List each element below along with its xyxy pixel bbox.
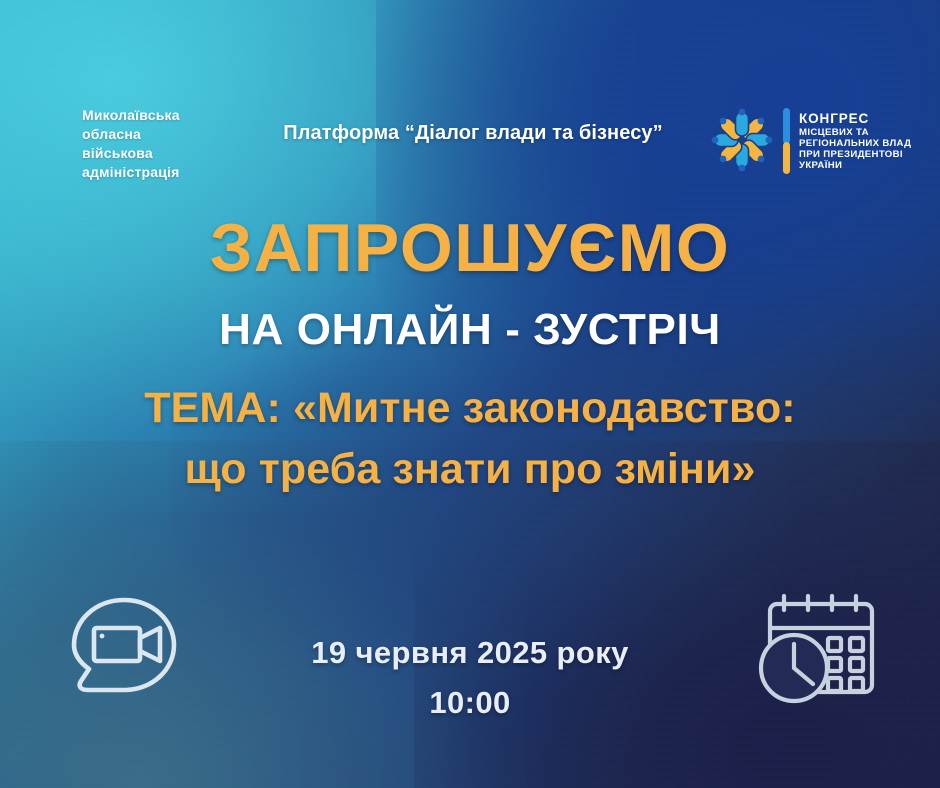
congress-line-5: УКРАЇНИ (799, 161, 911, 172)
theme-heading: ТЕМА: «Митне законодавство: що треба зна… (0, 378, 940, 500)
event-invitation-poster: Миколаївська обласна військова адміністр… (0, 0, 940, 788)
congress-line-1: КОНГРЕС (799, 111, 869, 126)
congress-logo-text: КОНГРЕС МІСЦЕВИХ ТА РЕГІОНАЛЬНИХ ВЛАД ПР… (797, 110, 911, 172)
congress-flag-bar-icon (782, 108, 791, 174)
invite-heading: ЗАПРОШУЄМО (0, 214, 940, 282)
online-meeting-subheading: НА ОНЛАЙН - ЗУСТРІЧ (0, 308, 940, 352)
congress-logo: КОНГРЕС МІСЦЕВИХ ТА РЕГІОНАЛЬНИХ ВЛАД ПР… (708, 104, 911, 178)
congress-emblem-icon (708, 104, 776, 178)
platform-title: Платформа “Діалог влади та бізнесу” (258, 122, 688, 145)
theme-line-2: що треба знати про зміни» (0, 439, 940, 500)
oblast-administration-logo-text: Миколаївська обласна військова адміністр… (82, 106, 180, 182)
headline-block: ЗАПРОШУЄМО НА ОНЛАЙН - ЗУСТРІЧ ТЕМА: «Ми… (0, 214, 940, 500)
calendar-clock-icon (750, 590, 890, 708)
theme-line-1: ТЕМА: «Митне законодавство: (0, 378, 940, 439)
